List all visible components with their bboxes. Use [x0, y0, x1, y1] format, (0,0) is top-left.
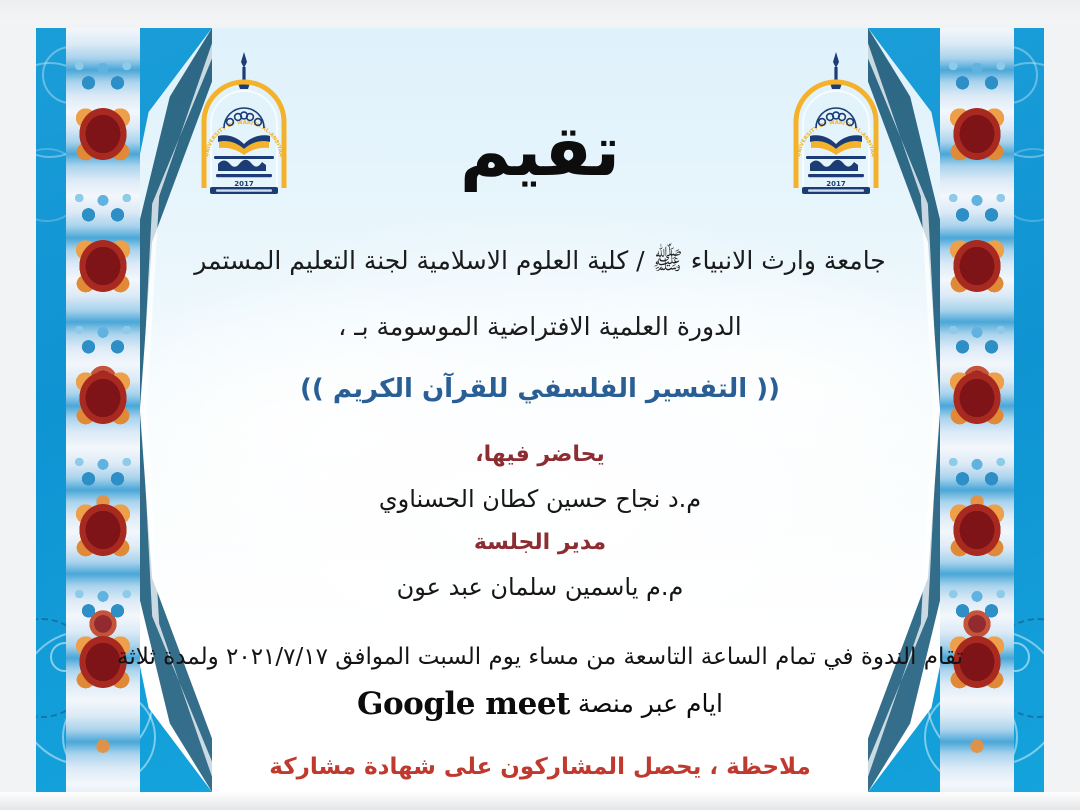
- course-topic-title: (( التفسير الفلسفي للقرآن الكريم )): [92, 372, 988, 407]
- poster-canvas: UNIVERSITY OF WARITH AL-ANBIYAA: [36, 28, 1044, 792]
- google-meet-brand: Google meet: [357, 684, 570, 726]
- moderator-name: م.م ياسمين سلمان عبد عون: [92, 571, 988, 603]
- platform-line: ايام عبر منصة Google meet: [92, 684, 988, 726]
- schedule-line: تقام الندوة في تمام الساعة التاسعة من مس…: [92, 642, 988, 673]
- lecturer-label: يحاضر فيها،: [92, 440, 988, 470]
- moderator-label: مدير الجلسة: [92, 528, 988, 558]
- page-top-edge: [0, 0, 1080, 24]
- lecturer-name: م.د نجاح حسين كطان الحسناوي: [92, 483, 988, 515]
- logo-banner: [802, 187, 870, 194]
- poster-root: UNIVERSITY OF WARITH AL-ANBIYAA: [0, 0, 1080, 810]
- logo-banner: [210, 187, 278, 194]
- poster-content: UNIVERSITY OF WARITH AL-ANBIYAA: [166, 28, 914, 792]
- organization-line: جامعة وارث الانبياء ﷺ / كلية العلوم الاس…: [92, 244, 988, 278]
- course-intro-line: الدورة العلمية الافتراضية الموسومة بـ ،: [92, 310, 988, 344]
- right-ornate-border: [940, 28, 1014, 792]
- certificate-note: ملاحظة ، يحصل المشاركون على شهادة مشاركة: [92, 752, 988, 783]
- platform-prefix: ايام عبر منصة: [578, 689, 723, 718]
- left-ornate-border: [66, 28, 140, 792]
- page-title: تقيم: [166, 116, 914, 186]
- page-bottom-edge: [0, 792, 1080, 810]
